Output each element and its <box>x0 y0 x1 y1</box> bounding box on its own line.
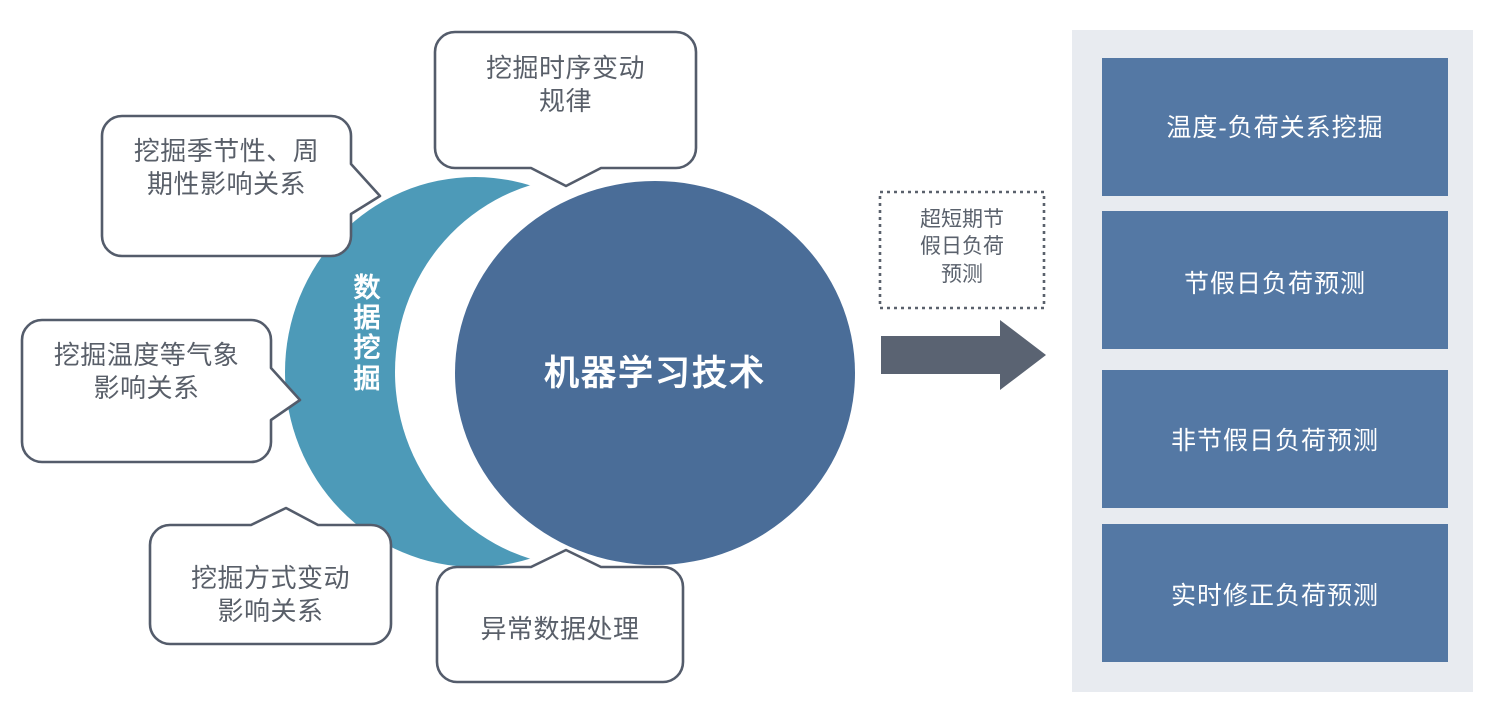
output-box-4-label: 实时修正负荷预测 <box>1102 580 1448 612</box>
callout-mode-change-label: 挖掘方式变动 影响关系 <box>150 562 391 629</box>
diagram-canvas: 挖掘季节性、周 期性影响关系 挖掘时序变动 规律 挖掘温度等气象 影响关系 挖掘… <box>0 0 1493 721</box>
output-box-3-label: 非节假日负荷预测 <box>1102 425 1448 457</box>
callout-weather-label: 挖掘温度等气象 影响关系 <box>22 339 271 406</box>
callout-seasonal-periodic-label: 挖掘季节性、周 期性影响关系 <box>102 135 351 202</box>
callout-time-series-label: 挖掘时序变动 规律 <box>435 52 696 119</box>
output-box-1-label: 温度-负荷关系挖掘 <box>1102 112 1448 144</box>
callout-abnormal-data-label: 异常数据处理 <box>437 613 683 646</box>
crescent-label: 数据 挖掘 <box>350 273 384 394</box>
core-ellipse-label: 机器学习技术 <box>455 352 855 397</box>
dotted-note-label: 超短期节 假日负荷 预测 <box>886 206 1038 288</box>
output-box-2-label: 节假日负荷预测 <box>1102 268 1448 300</box>
